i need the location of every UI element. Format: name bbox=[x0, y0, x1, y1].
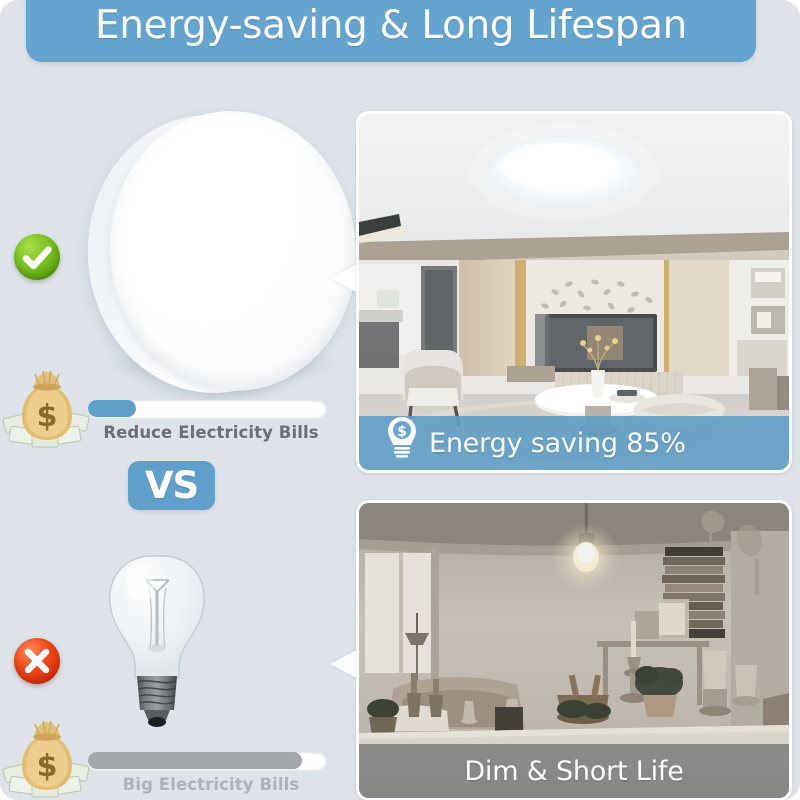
svg-text:$: $ bbox=[397, 424, 407, 440]
progress-fill bbox=[88, 752, 302, 769]
bulb-dollar-icon: $ bbox=[385, 415, 419, 466]
led-gloss-highlight bbox=[162, 126, 328, 269]
meter-label: Big Electricity Bills bbox=[88, 775, 334, 794]
progress-fill bbox=[88, 400, 136, 417]
bright-room-photo-card: $ Energy saving 85% bbox=[356, 111, 792, 473]
svg-text:$: $ bbox=[37, 749, 58, 784]
check-circle-icon bbox=[14, 234, 60, 280]
money-bag-icon: $ bbox=[2, 366, 92, 450]
dim-room-photo-card: Dim & Short Life bbox=[356, 500, 792, 800]
vs-label: VS bbox=[145, 464, 198, 507]
incandescent-bulb-illustration bbox=[100, 548, 250, 748]
svg-text:$: $ bbox=[37, 399, 58, 434]
reduce-bills-meter: Reduce Electricity Bills bbox=[88, 400, 334, 442]
progress-track bbox=[88, 752, 326, 769]
vs-badge: VS bbox=[128, 461, 215, 510]
caption-energy-saving: $ Energy saving 85% bbox=[359, 416, 792, 470]
infographic-root: Energy-saving & Long Lifespan bbox=[0, 0, 800, 800]
caption-text: Dim & Short Life bbox=[464, 756, 683, 787]
caption-dim-short-life: Dim & Short Life bbox=[359, 744, 789, 798]
led-ceiling-light-illustration bbox=[78, 105, 358, 405]
meter-label: Reduce Electricity Bills bbox=[88, 423, 334, 442]
caption-text: Energy saving 85% bbox=[429, 428, 686, 459]
money-bag-icon: $ bbox=[2, 716, 92, 800]
page-title: Energy-saving & Long Lifespan bbox=[95, 6, 687, 45]
big-bills-meter: Big Electricity Bills bbox=[88, 752, 334, 794]
title-banner: Energy-saving & Long Lifespan bbox=[26, 0, 756, 62]
progress-track bbox=[88, 400, 326, 417]
cross-circle-icon bbox=[14, 638, 60, 684]
